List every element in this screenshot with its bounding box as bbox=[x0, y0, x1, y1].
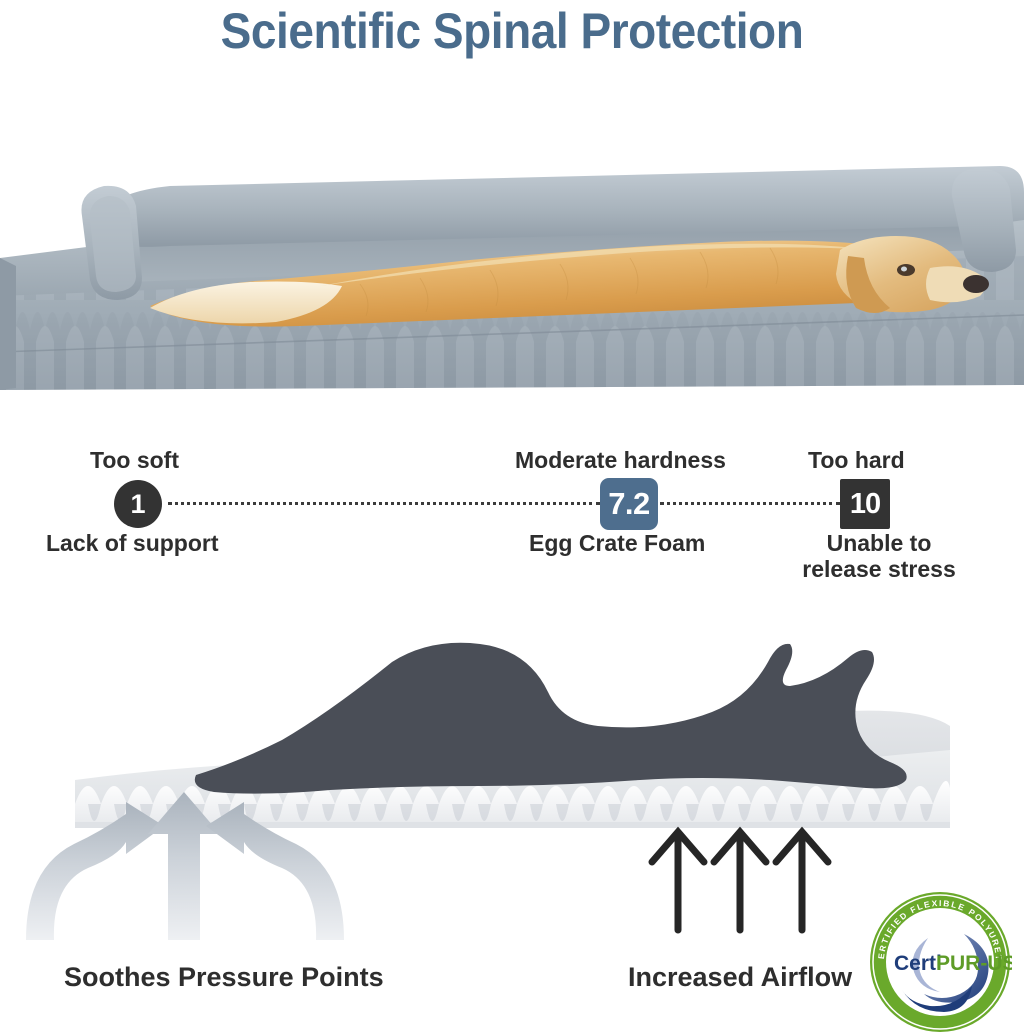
scale-left-bottom-label: Lack of support bbox=[46, 530, 219, 556]
caption-increased-airflow: Increased Airflow bbox=[628, 962, 852, 993]
page-title: Scientific Spinal Protection bbox=[41, 2, 983, 60]
scale-right-bottom-line2: release stress bbox=[802, 556, 955, 582]
scale-left-top-label: Too soft bbox=[90, 448, 179, 473]
scale-connector-right bbox=[660, 502, 840, 505]
infographic-page: Scientific Spinal Protection bbox=[0, 0, 1024, 1034]
airflow-arrows bbox=[652, 832, 828, 930]
scale-right-top-label: Too hard bbox=[808, 448, 905, 473]
caption-soothes-pressure-points: Soothes Pressure Points bbox=[64, 962, 384, 993]
scale-right-bottom-line1: Unable to bbox=[827, 530, 932, 556]
diagram-svg bbox=[0, 600, 1024, 940]
scale-middle-top-label: Moderate hardness bbox=[515, 448, 726, 473]
scale-middle-bottom-label: Egg Crate Foam bbox=[529, 530, 705, 556]
scale-badge-moderate: 7.2 bbox=[600, 478, 658, 530]
seal-registered-mark: ® bbox=[997, 953, 1003, 962]
scale-right-bottom-label: Unable to release stress bbox=[795, 530, 963, 583]
seal-wordmark-certi: Certi bbox=[894, 952, 942, 975]
foam-cross-section-diagram bbox=[0, 600, 1024, 940]
dog-silhouette bbox=[195, 643, 907, 794]
dog-bed-illustration bbox=[0, 100, 1024, 400]
scale-badge-too-hard: 10 bbox=[840, 479, 890, 529]
hero-product-photo bbox=[0, 100, 1024, 400]
certipur-us-seal: CONTAINS CERTIFIED FLEXIBLE POLYURETHANE… bbox=[868, 890, 1012, 1034]
scale-connector-left bbox=[168, 502, 600, 505]
scale-badge-too-soft: 1 bbox=[114, 480, 162, 528]
certipur-seal-svg: CONTAINS CERTIFIED FLEXIBLE POLYURETHANE… bbox=[868, 890, 1012, 1034]
